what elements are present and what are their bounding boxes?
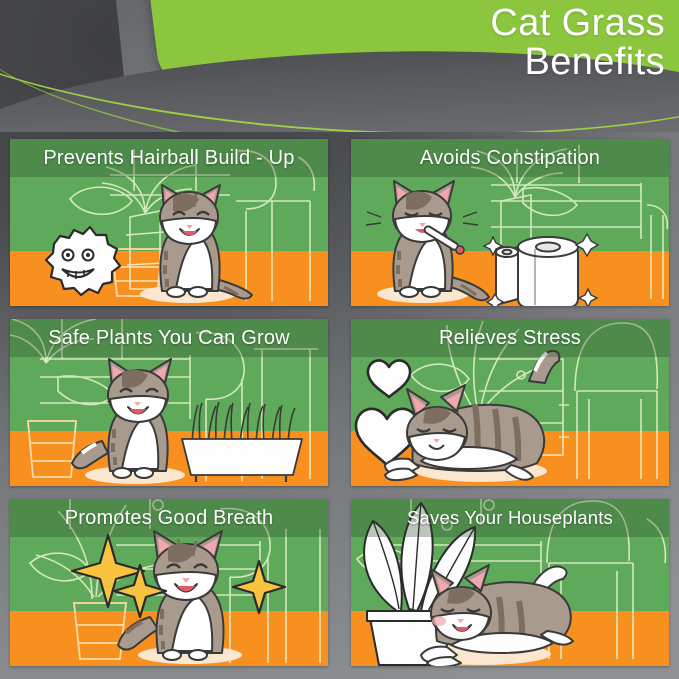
potted-plant-icon bbox=[28, 421, 76, 477]
panel-title: Prevents Hairball Build - Up bbox=[43, 147, 294, 170]
grass-planter-icon bbox=[182, 402, 302, 482]
benefits-grid: Prevents Hairball Build - Up bbox=[10, 139, 669, 672]
happy-cat-icon bbox=[72, 359, 171, 478]
benefit-panel-promotes-good-breath[interactable]: Promotes Good Breath bbox=[10, 499, 328, 666]
title-line-2: Benefits bbox=[490, 43, 665, 82]
page-title: Cat Grass Benefits bbox=[490, 4, 665, 82]
infographic-canvas: Cat Grass Benefits bbox=[0, 0, 679, 679]
sick-cat-thermometer-icon bbox=[366, 181, 489, 300]
benefit-panel-prevents-hairball-build-up[interactable]: Prevents Hairball Build - Up bbox=[10, 139, 328, 306]
benefit-panel-relieves-stress[interactable]: Relieves Stress bbox=[351, 319, 669, 486]
toilet-paper-roll-icon bbox=[496, 237, 578, 306]
panel-title-band: Promotes Good Breath bbox=[10, 499, 328, 537]
benefit-panel-saves-your-houseplants[interactable]: Saves Your Houseplants bbox=[351, 499, 669, 666]
sitting-cat-icon bbox=[160, 185, 252, 299]
header-banner: Cat Grass Benefits bbox=[0, 0, 679, 132]
panel-title-band: Safe Plants You Can Grow bbox=[10, 319, 328, 357]
lying-cat-icon bbox=[421, 565, 573, 666]
panel-title: Safe Plants You Can Grow bbox=[48, 327, 290, 350]
panel-title: Avoids Constipation bbox=[420, 147, 600, 170]
panel-title-band: Relieves Stress bbox=[351, 319, 669, 357]
potted-plant-icon bbox=[74, 603, 126, 659]
panel-title-band: Saves Your Houseplants bbox=[351, 499, 669, 537]
panel-title: Saves Your Houseplants bbox=[407, 507, 613, 529]
panel-title-band: Prevents Hairball Build - Up bbox=[10, 139, 328, 177]
panel-title: Promotes Good Breath bbox=[65, 507, 274, 530]
title-line-1: Cat Grass bbox=[490, 4, 665, 43]
heart-icon bbox=[356, 360, 418, 465]
benefit-panel-avoids-constipation[interactable]: Avoids Constipation bbox=[351, 139, 669, 306]
hairball-icon bbox=[46, 227, 120, 295]
panel-title: Relieves Stress bbox=[439, 327, 581, 350]
panel-title-band: Avoids Constipation bbox=[351, 139, 669, 177]
benefit-panel-safe-plants-you-can-grow[interactable]: Safe Plants You Can Grow bbox=[10, 319, 328, 486]
